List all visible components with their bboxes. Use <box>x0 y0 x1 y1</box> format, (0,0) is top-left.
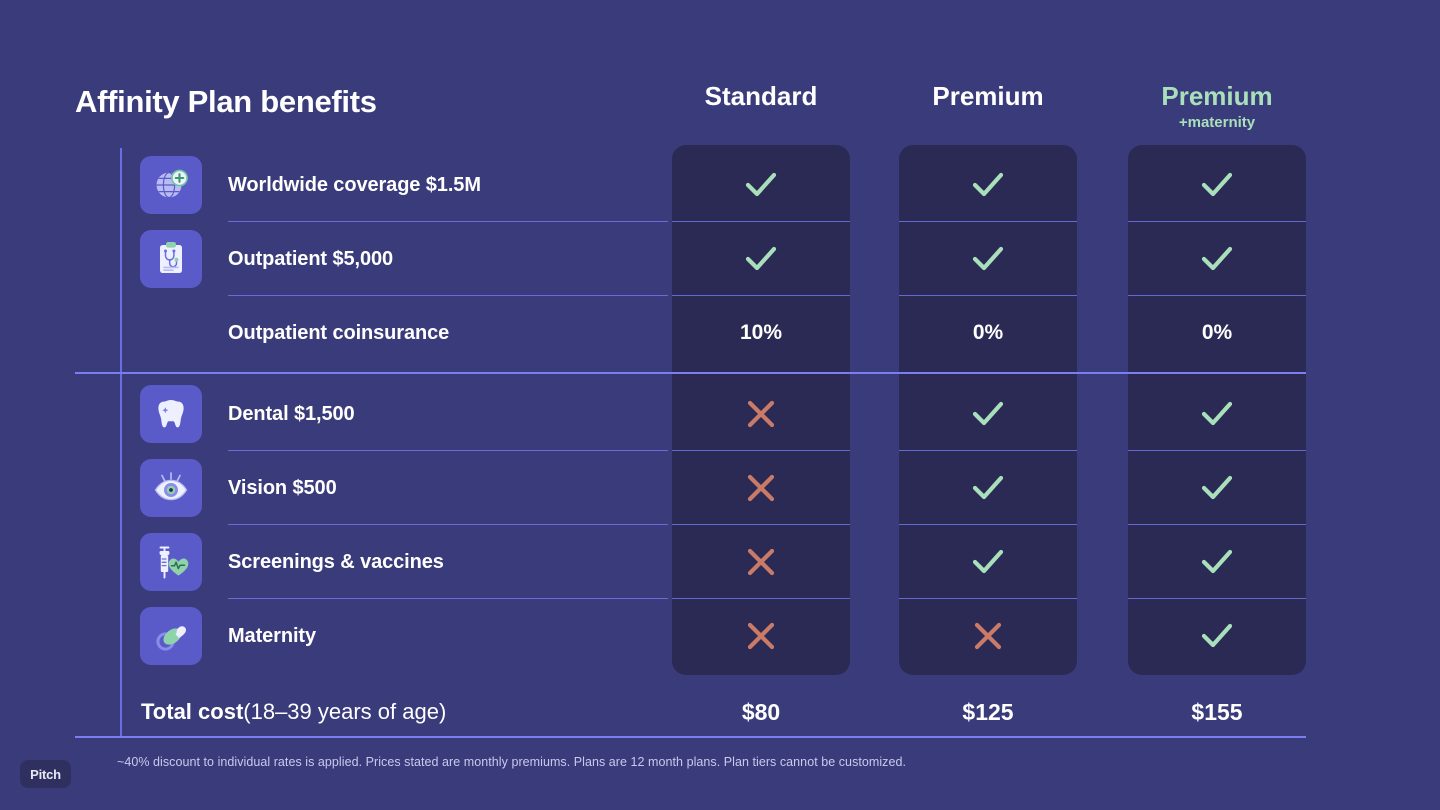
check-icon <box>739 239 783 279</box>
group-divider <box>75 372 1306 374</box>
check-icon <box>966 394 1010 434</box>
column-header-premium: Premium <box>899 80 1077 112</box>
cell-premium: 0% <box>899 296 1077 370</box>
check-icon <box>966 239 1010 279</box>
column-header-label: Premium <box>1128 80 1306 112</box>
check-icon <box>1195 239 1239 279</box>
column-header-label: Standard <box>672 80 850 112</box>
check-icon <box>966 165 1010 205</box>
total-cost-label-bold: Total cost <box>141 699 243 725</box>
syringe-heart-icon <box>140 533 202 591</box>
cell-standard <box>672 451 850 525</box>
cell-premium-maternity <box>1128 148 1306 222</box>
globe-plus-icon <box>140 156 202 214</box>
cell-premium <box>899 525 1077 599</box>
cell-premium-maternity <box>1128 525 1306 599</box>
cell-premium <box>899 599 1077 673</box>
column-header-premium-maternity: Premium +maternity <box>1128 80 1306 133</box>
column-header-label: Premium <box>899 80 1077 112</box>
table-row: Maternity <box>0 599 1440 673</box>
cell-premium-maternity <box>1128 377 1306 451</box>
cell-premium <box>899 451 1077 525</box>
total-cost-row: Total cost (18–39 years of age) $80 $125… <box>0 686 1440 738</box>
cross-icon <box>966 616 1010 656</box>
total-cost-standard: $80 <box>672 686 850 738</box>
check-icon <box>1195 616 1239 656</box>
table-row: Vision $500 <box>0 451 1440 525</box>
clipboard-stethoscope-icon <box>140 230 202 288</box>
table-row: Outpatient $5,000 <box>0 222 1440 296</box>
cell-premium-maternity: 0% <box>1128 296 1306 370</box>
check-icon <box>1195 468 1239 508</box>
cell-value: 10% <box>740 321 782 345</box>
tooth-icon <box>140 385 202 443</box>
cell-premium <box>899 148 1077 222</box>
check-icon <box>1195 394 1239 434</box>
row-label: Screenings & vaccines <box>228 525 444 599</box>
cross-icon <box>739 616 783 656</box>
total-cost-label-note: (18–39 years of age) <box>243 699 446 725</box>
row-label: Maternity <box>228 599 316 673</box>
cell-standard <box>672 599 850 673</box>
cell-premium-maternity <box>1128 451 1306 525</box>
check-icon <box>739 165 783 205</box>
footnote: ~40% discount to individual rates is app… <box>117 755 906 769</box>
cell-premium <box>899 377 1077 451</box>
cross-icon <box>739 542 783 582</box>
page-title: Affinity Plan benefits <box>75 84 377 120</box>
table-row: Dental $1,500 <box>0 377 1440 451</box>
pitch-logo-badge[interactable]: Pitch <box>20 760 71 788</box>
total-cost-label: Total cost (18–39 years of age) <box>141 686 446 738</box>
left-accent-rule <box>120 148 122 737</box>
cell-standard: 10% <box>672 296 850 370</box>
cell-premium-maternity <box>1128 222 1306 296</box>
row-label: Worldwide coverage $1.5M <box>228 148 481 222</box>
table-row: Screenings & vaccines <box>0 525 1440 599</box>
cell-standard <box>672 525 850 599</box>
slide-canvas: Affinity Plan benefits Standard Premium … <box>0 0 1440 810</box>
check-icon <box>966 542 1010 582</box>
row-label: Dental $1,500 <box>228 377 355 451</box>
column-header-sublabel: +maternity <box>1128 113 1306 133</box>
check-icon <box>966 468 1010 508</box>
cell-premium-maternity <box>1128 599 1306 673</box>
cross-icon <box>739 468 783 508</box>
table-row: Worldwide coverage $1.5M <box>0 148 1440 222</box>
cell-standard <box>672 222 850 296</box>
cell-value: 0% <box>1202 321 1232 345</box>
total-cost-premium: $125 <box>899 686 1077 738</box>
row-label: Outpatient $5,000 <box>228 222 393 296</box>
bottom-divider <box>75 736 1306 738</box>
cell-standard <box>672 377 850 451</box>
cell-standard <box>672 148 850 222</box>
check-icon <box>1195 542 1239 582</box>
cross-icon <box>739 394 783 434</box>
total-cost-premium-maternity: $155 <box>1128 686 1306 738</box>
row-label: Vision $500 <box>228 451 337 525</box>
cell-premium <box>899 222 1077 296</box>
pacifier-icon <box>140 607 202 665</box>
column-header-standard: Standard <box>672 80 850 112</box>
check-icon <box>1195 165 1239 205</box>
table-row: Outpatient coinsurance 10% 0% 0% <box>0 296 1440 370</box>
cell-value: 0% <box>973 321 1003 345</box>
eye-icon <box>140 459 202 517</box>
row-label: Outpatient coinsurance <box>228 296 449 370</box>
